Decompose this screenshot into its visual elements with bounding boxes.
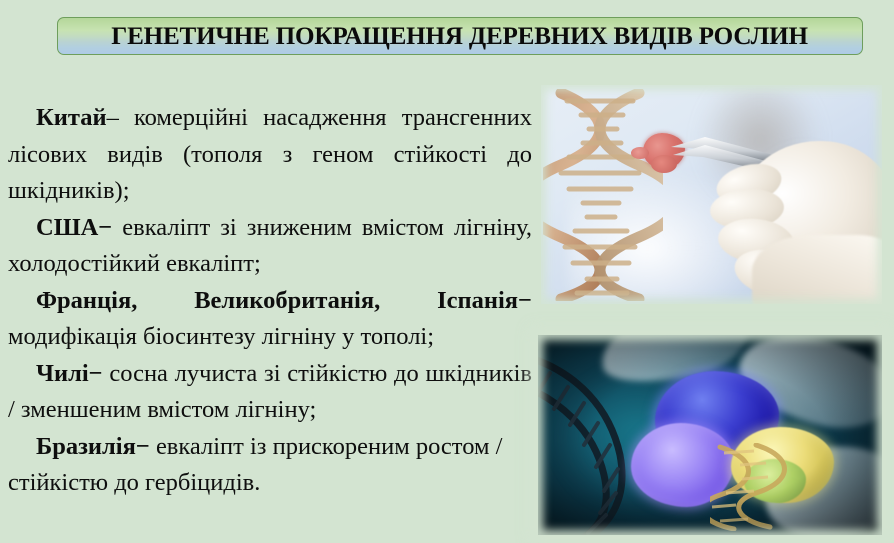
list-item: Чилі− сосна лучиста зі стійкістю до шкід…: [8, 356, 532, 429]
country-name: Китай: [36, 104, 107, 131]
glove-wrist: [752, 235, 882, 304]
slide-title-banner: ГЕНЕТИЧНЕ ПОКРАЩЕННЯ ДЕРЕВНИХ ВИДІВ РОСЛ…: [57, 17, 863, 55]
list-item: Бразилія− евкаліпт із прискореним ростом…: [8, 429, 532, 502]
gloved-hand-icon: [708, 123, 882, 304]
paragraph-dash: –: [107, 104, 119, 131]
page-title: ГЕНЕТИЧНЕ ПОКРАЩЕННЯ ДЕРЕВНИХ ВИДІВ РОСЛ…: [112, 23, 809, 49]
paragraph-dash: −: [136, 433, 150, 460]
dna-tweezers-photo: [541, 85, 882, 304]
dna-helix-icon: [543, 89, 663, 301]
photo-vignette: [538, 335, 882, 535]
paragraph-text: модифікація біосинтезу лігніну у тополі;: [8, 323, 434, 350]
country-name: Бразилія: [36, 433, 136, 460]
slide-body-text: Китай– комерційні насадження трансгенних…: [8, 100, 532, 502]
crispr-complex-photo: [538, 335, 882, 535]
list-item: Китай– комерційні насадження трансгенних…: [8, 100, 532, 210]
country-name: Франція, Великобританія, Іспанія: [36, 287, 518, 314]
paragraph-dash: −: [89, 360, 103, 387]
country-name: Чилі: [36, 360, 89, 387]
list-item: Франція, Великобританія, Іспанія− модифі…: [8, 283, 532, 356]
paragraph-dash: −: [98, 214, 112, 241]
country-name: США: [36, 214, 98, 241]
list-item: США− евкаліпт зі зниженим вмістом лігнін…: [8, 210, 532, 283]
paragraph-dash: −: [518, 287, 532, 314]
